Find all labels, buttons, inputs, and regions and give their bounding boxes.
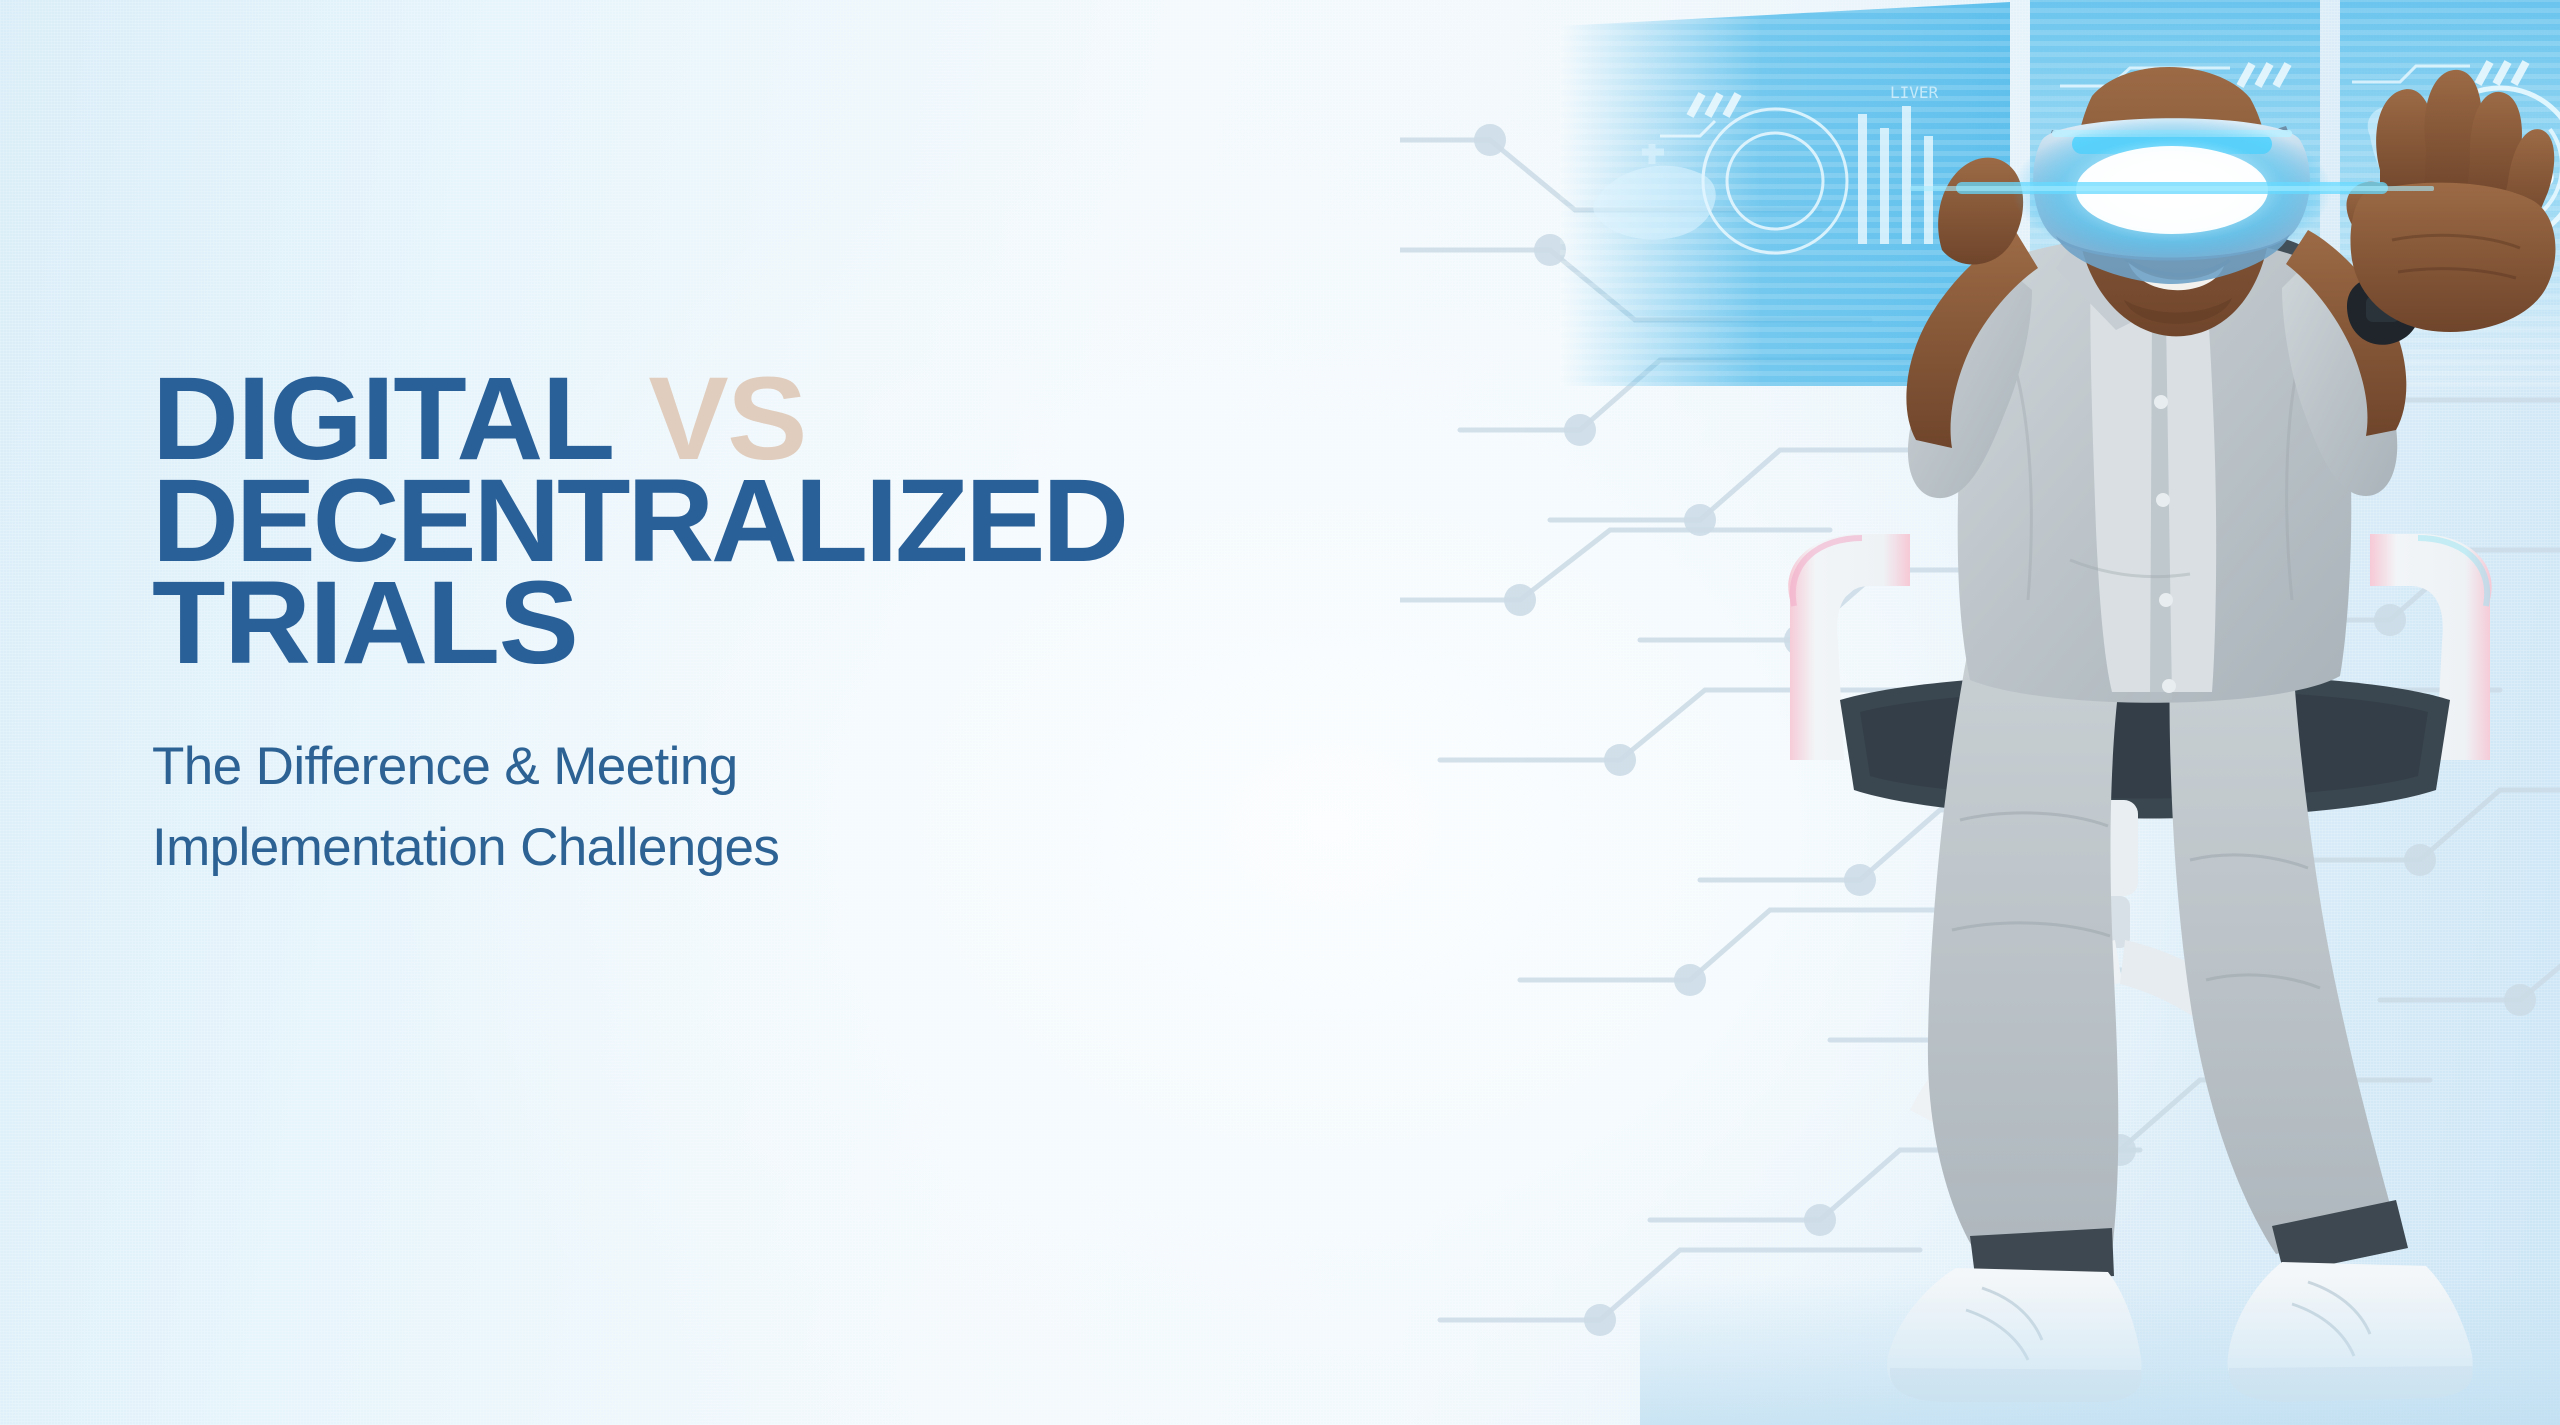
open-hand [2347, 70, 2556, 332]
vr-user-photo [1720, 0, 2560, 1425]
hero-text-block: DIGITALVS DECENTRALIZED TRIALS The Diffe… [152, 368, 1402, 888]
hero-banner: LIVER [0, 0, 2560, 1425]
subtitle-line-2: Implementation Challenges [152, 807, 1402, 888]
sneakers [1887, 1262, 2473, 1402]
subtitle-line-1: The Difference & Meeting [152, 726, 1402, 807]
subtitle-block: The Difference & Meeting Implementation … [152, 726, 1402, 888]
headline-line-3: TRIALS [152, 572, 1427, 674]
